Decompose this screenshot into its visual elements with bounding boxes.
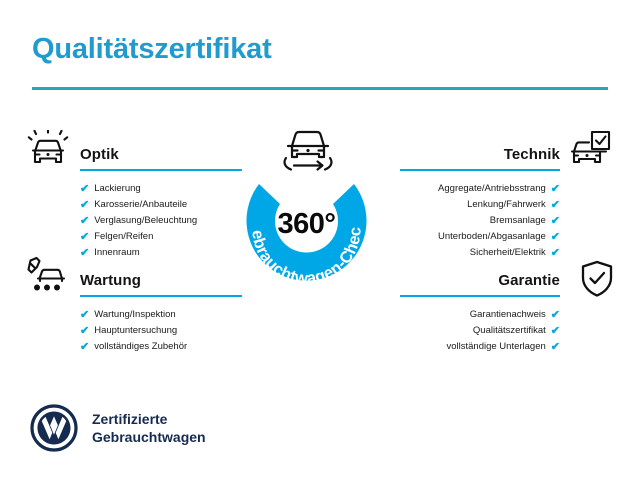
check-icon: ✔ (80, 248, 89, 259)
list-item-label: Verglasung/Beleuchtung (94, 213, 197, 229)
list-item: Garantienachweis✔ (400, 307, 560, 323)
section-garantie-list: Garantienachweis✔ Qualitätszertifikat✔ v… (400, 307, 560, 355)
check-icon: ✔ (551, 184, 560, 195)
footer-brand: Zertifizierte Gebrauchtwagen (30, 404, 206, 452)
car-front-lights-icon (26, 130, 70, 170)
check-icon: ✔ (551, 216, 560, 227)
list-item: ✔Hauptuntersuchung (80, 323, 242, 339)
list-item: vollständige Unterlagen✔ (400, 339, 560, 355)
list-item-label: Qualitätszertifikat (473, 323, 546, 339)
check-icon: ✔ (80, 342, 89, 353)
list-item: ✔Verglasung/Beleuchtung (80, 213, 242, 229)
list-item: ✔Innenraum (80, 245, 242, 261)
check-icon: ✔ (80, 184, 89, 195)
check-icon: ✔ (551, 200, 560, 211)
list-item-label: Unterboden/Abgasanlage (438, 229, 546, 245)
list-item-label: Aggregate/Antriebsstrang (438, 181, 546, 197)
shield-check-icon (575, 260, 619, 300)
section-technik: Technik Aggregate/Antriebsstrang✔ Lenkun… (400, 145, 560, 261)
section-technik-title: Technik (400, 145, 560, 165)
list-item-label: Lackierung (94, 181, 140, 197)
section-technik-list: Aggregate/Antriebsstrang✔ Lenkung/Fahrwe… (400, 181, 560, 261)
list-item: Bremsanlage✔ (400, 213, 560, 229)
car-checkbox-icon (568, 130, 612, 170)
list-item-label: Felgen/Reifen (94, 229, 153, 245)
title-divider (32, 87, 608, 90)
check-icon: ✔ (551, 232, 560, 243)
list-item-label: Sicherheit/Elektrik (470, 245, 546, 261)
list-item: ✔Felgen/Reifen (80, 229, 242, 245)
section-garantie-header: Garantie (400, 271, 560, 297)
section-technik-header: Technik (400, 145, 560, 171)
footer-line-2: Gebrauchtwagen (92, 428, 206, 446)
list-item-label: Innenraum (94, 245, 139, 261)
list-item: Sicherheit/Elektrik✔ (400, 245, 560, 261)
list-item-label: Lenkung/Fahrwerk (467, 197, 546, 213)
section-wartung-header: Wartung (80, 271, 242, 297)
badge-center-label: 360° (229, 208, 384, 241)
list-item: Aggregate/Antriebsstrang✔ (400, 181, 560, 197)
footer-text: Zertifizierte Gebrauchtwagen (92, 410, 206, 446)
section-optik: Optik ✔Lackierung ✔Karosserie/Anbauteile… (80, 145, 242, 261)
list-item: ✔Karosserie/Anbauteile (80, 197, 242, 213)
section-optik-header: Optik (80, 145, 242, 171)
list-item: Lenkung/Fahrwerk✔ (400, 197, 560, 213)
section-garantie-divider (400, 295, 560, 297)
list-item-label: Wartung/Inspektion (94, 307, 176, 323)
section-optik-list: ✔Lackierung ✔Karosserie/Anbauteile ✔Verg… (80, 181, 242, 261)
list-item-label: Hauptuntersuchung (94, 323, 177, 339)
list-item: Unterboden/Abgasanlage✔ (400, 229, 560, 245)
section-wartung: Wartung ✔Wartung/Inspektion ✔Hauptunters… (80, 271, 242, 355)
list-item-label: Karosserie/Anbauteile (94, 197, 187, 213)
check-icon: ✔ (80, 216, 89, 227)
list-item: Qualitätszertifikat✔ (400, 323, 560, 339)
section-technik-divider (400, 169, 560, 171)
section-optik-title: Optik (80, 145, 242, 165)
section-optik-divider (80, 169, 242, 171)
check-icon: ✔ (80, 200, 89, 211)
quality-certificate-page: Qualitätszertifikat Optik ✔Lackierung ✔K… (0, 0, 640, 480)
section-wartung-divider (80, 295, 242, 297)
check-icon: ✔ (80, 326, 89, 337)
volkswagen-logo (30, 404, 78, 452)
section-wartung-list: ✔Wartung/Inspektion ✔Hauptuntersuchung ✔… (80, 307, 242, 355)
check-icon: ✔ (551, 342, 560, 353)
section-garantie: Garantie Garantienachweis✔ Qualitätszert… (400, 271, 560, 355)
list-item-label: Bremsanlage (490, 213, 546, 229)
check-icon: ✔ (80, 232, 89, 243)
car-rotation-360-icon (272, 124, 344, 180)
footer-line-1: Zertifizierte (92, 411, 167, 427)
check-icon: ✔ (551, 248, 560, 259)
page-title: Qualitätszertifikat (32, 33, 272, 66)
check-icon: ✔ (551, 326, 560, 337)
section-garantie-title: Garantie (400, 271, 560, 291)
check-icon: ✔ (551, 310, 560, 321)
section-wartung-title: Wartung (80, 271, 242, 291)
list-item: ✔Lackierung (80, 181, 242, 197)
list-item-label: Garantienachweis (470, 307, 546, 323)
list-item: ✔Wartung/Inspektion (80, 307, 242, 323)
service-pen-car-icon (26, 256, 70, 296)
list-item: ✔vollständiges Zubehör (80, 339, 242, 355)
check-icon: ✔ (80, 310, 89, 321)
list-item-label: vollständiges Zubehör (94, 339, 187, 355)
list-item-label: vollständige Unterlagen (446, 339, 545, 355)
